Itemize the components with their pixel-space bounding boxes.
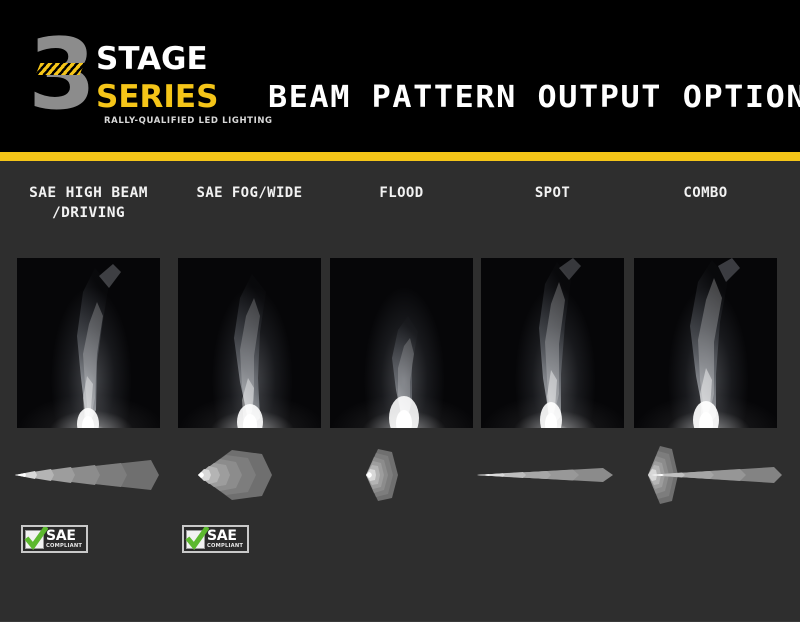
logo-wordmark: STAGE SERIES <box>96 44 256 113</box>
column-label: FLOOD <box>316 183 487 203</box>
page-header: 3 STAGE SERIES RALLY-QUALIFIED LED LIGHT… <box>0 0 800 152</box>
column-label-line1: SAE HIGH BEAM <box>1 183 176 203</box>
beam-diagram-combo <box>626 444 786 506</box>
column-label-line1: COMBO <box>620 183 791 203</box>
brand-logo: 3 STAGE SERIES RALLY-QUALIFIED LED LIGHT… <box>28 30 253 130</box>
beam-column-spot: SPOT <box>481 161 624 622</box>
photo-trail-detail <box>330 258 473 428</box>
column-label: SPOT <box>467 183 638 203</box>
column-label: COMBO <box>620 183 791 203</box>
column-label: SAE HIGH BEAM /DRIVING <box>1 183 176 223</box>
logo-slash-accent <box>36 63 85 75</box>
checkmark-icon <box>25 530 44 549</box>
beam-photo-combo <box>634 258 777 428</box>
logo-word-stage: STAGE <box>96 44 256 75</box>
beam-diagram-spot <box>473 444 633 506</box>
beam-diagram-flood <box>322 444 482 506</box>
beam-diagram-fog-wide <box>170 444 330 506</box>
beam-photo-flood <box>330 258 473 428</box>
column-label-line1: SPOT <box>467 183 638 203</box>
logo-word-series: SERIES <box>96 82 256 113</box>
beam-photo-spot <box>481 258 624 428</box>
yellow-accent-bar <box>0 152 800 161</box>
photo-trail-detail <box>634 258 777 428</box>
sae-compliant-badge: SAE COMPLIANT <box>21 525 88 553</box>
column-label-line2: /DRIVING <box>1 203 176 223</box>
beam-pattern-comparison-page: 3 STAGE SERIES RALLY-QUALIFIED LED LIGHT… <box>0 0 800 622</box>
badge-text: SAE COMPLIANT <box>46 529 82 549</box>
beam-photo-fog-wide <box>178 258 321 428</box>
badge-text: SAE COMPLIANT <box>207 529 243 549</box>
column-label-line1: FLOOD <box>316 183 487 203</box>
beam-column-combo: COMBO <box>634 161 777 622</box>
badge-title: SAE <box>46 529 82 543</box>
beam-column-driving: SAE HIGH BEAM /DRIVING <box>17 161 160 622</box>
column-label-line1: SAE FOG/WIDE <box>164 183 335 203</box>
badge-title: SAE <box>207 529 243 543</box>
logo-tagline: RALLY-QUALIFIED LED LIGHTING <box>104 116 273 126</box>
column-label: SAE FOG/WIDE <box>164 183 335 203</box>
beam-diagram-driving <box>9 444 169 506</box>
photo-trail-detail <box>178 258 321 428</box>
photo-trail-detail <box>481 258 624 428</box>
checkmark-icon <box>186 530 205 549</box>
badge-subtitle: COMPLIANT <box>207 544 243 549</box>
beam-column-flood: FLOOD <box>330 161 473 622</box>
beam-photo-driving <box>17 258 160 428</box>
page-title: BEAM PATTERN OUTPUT OPTIONS <box>268 80 800 115</box>
logo-numeral: 3 <box>28 26 92 124</box>
badge-subtitle: COMPLIANT <box>46 544 82 549</box>
beam-column-fog-wide: SAE FOG/WIDE <box>178 161 321 622</box>
photo-trail-detail <box>17 258 160 428</box>
sae-compliant-badge: SAE COMPLIANT <box>182 525 249 553</box>
beam-pattern-grid: SAE HIGH BEAM /DRIVING <box>0 161 800 622</box>
